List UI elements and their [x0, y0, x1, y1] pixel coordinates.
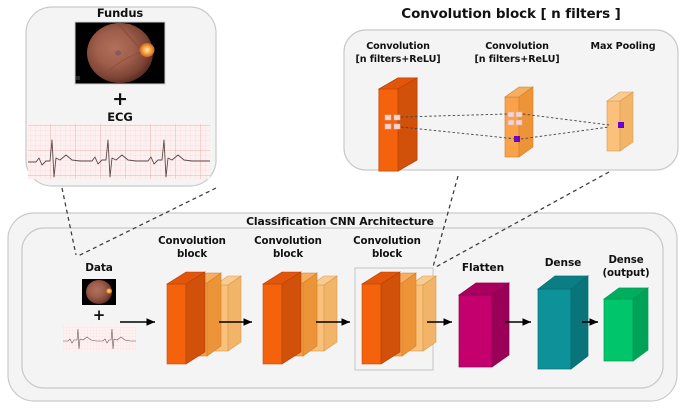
- maxpool-slab: [607, 92, 633, 151]
- layer-dense-output-label-line2: (output): [590, 268, 662, 281]
- dense-block: [538, 276, 588, 369]
- fundus-label: Fundus: [76, 6, 164, 20]
- layer-1-label-line2: block: [143, 249, 241, 262]
- conv-detail-slab-1: [379, 78, 417, 171]
- conv-detail-stage-3-label-line1: Max Pooling: [570, 41, 676, 53]
- conv-detail-stage-1-label-line2: [n filters+ReLU]: [345, 54, 451, 66]
- data-label: Data: [68, 262, 130, 275]
- layer-dense-output-label-line1: Dense: [590, 255, 662, 268]
- flatten-block: [459, 283, 509, 367]
- conv-detail-stage-2-label-line1: Convolution: [464, 41, 570, 53]
- layer-2-label-line1: Convolution: [239, 236, 337, 249]
- ecg-label: ECG: [96, 110, 144, 124]
- input-plus-symbol: +: [96, 88, 144, 112]
- conv-detail-stage-1-label-line1: Convolution: [345, 41, 451, 53]
- conv-detail-slab-2: [505, 87, 533, 157]
- layer-flatten-label: Flatten: [445, 262, 521, 275]
- conv-detail-title: Convolution block [ n filters ]: [352, 6, 670, 23]
- dense-output-block: [604, 288, 648, 361]
- layer-3-label-line2: block: [338, 249, 436, 262]
- data-fundus-thumb: [82, 279, 116, 305]
- ecg-image: [28, 124, 210, 179]
- data-ecg-thumb: [63, 325, 136, 351]
- layer-2-label-line2: block: [239, 249, 337, 262]
- conv-detail-stage-2-label-line2: [n filters+ReLU]: [464, 54, 570, 66]
- layer-1-label-line1: Convolution: [143, 236, 241, 249]
- architecture-title: Classification CNN Architecture: [190, 215, 490, 228]
- fundus-image: [75, 22, 165, 84]
- data-plus-symbol: +: [76, 306, 122, 325]
- diagram-canvas: [0, 0, 685, 409]
- layer-3-label-line1: Convolution: [338, 236, 436, 249]
